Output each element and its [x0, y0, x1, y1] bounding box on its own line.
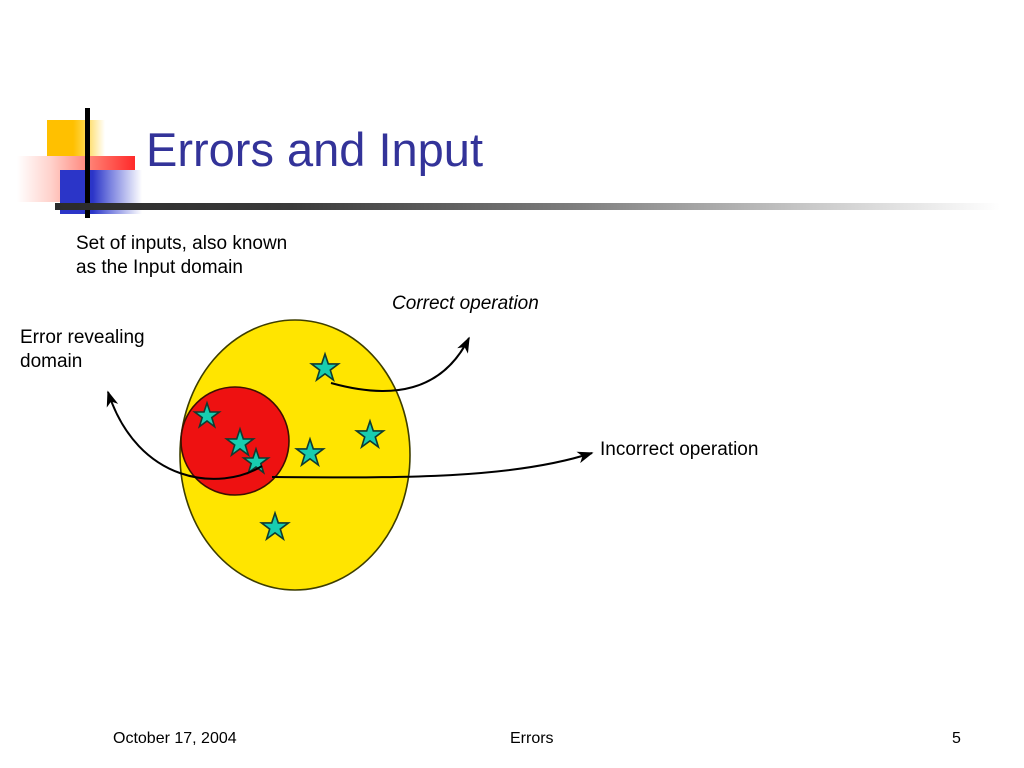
footer-page-number: 5 — [952, 730, 961, 748]
footer-date: October 17, 2004 — [113, 730, 237, 748]
incorrect-operation-label: Incorrect operation — [600, 438, 758, 462]
correct-operation-label: Correct operation — [392, 292, 539, 316]
errors-and-input-diagram — [0, 0, 1024, 768]
footer-subject: Errors — [510, 730, 554, 748]
input-domain-label: Set of inputs, also known as the Input d… — [76, 232, 287, 281]
slide-footer: October 17, 2004 Errors 5 — [0, 730, 1024, 760]
error-revealing-domain-label: Error revealing domain — [20, 326, 145, 375]
